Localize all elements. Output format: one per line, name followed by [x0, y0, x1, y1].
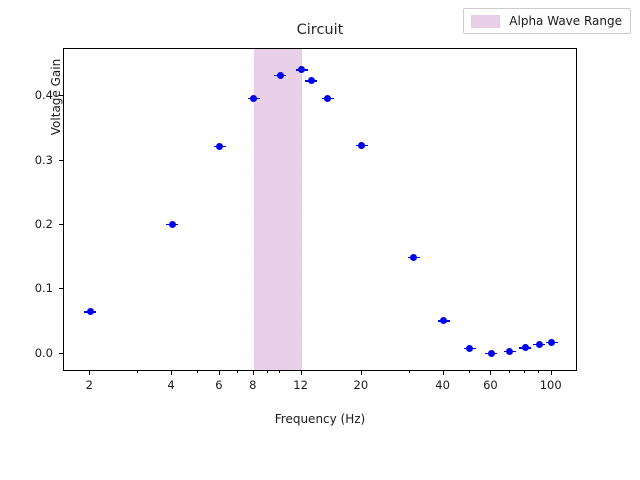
error-bar: [166, 224, 178, 225]
data-point: [440, 317, 447, 324]
error-bar: [274, 75, 286, 76]
data-point: [87, 308, 94, 315]
x-tick-mark: [89, 371, 90, 375]
y-tick-label: 0.0: [35, 346, 53, 360]
x-tick-mark: [171, 371, 172, 375]
x-tick-label: 20: [354, 378, 369, 392]
error-bar: [305, 80, 317, 81]
error-bar: [438, 320, 450, 321]
data-point: [548, 339, 555, 346]
error-bar: [546, 342, 558, 343]
shaded-region-right-edge: [301, 49, 302, 370]
x-tick-mark: [301, 371, 302, 375]
data-point: [298, 66, 305, 73]
error-bar: [408, 257, 420, 258]
x-tick-mark: [551, 371, 552, 375]
x-tick-minor: [279, 371, 280, 373]
error-bar: [84, 311, 96, 312]
y-tick-mark: [59, 353, 63, 354]
x-tick-minor: [409, 371, 410, 373]
error-bar: [356, 145, 368, 146]
x-tick-label: 8: [249, 378, 256, 392]
x-tick-minor: [137, 371, 138, 373]
y-tick-mark: [59, 288, 63, 289]
error-bar: [533, 344, 545, 345]
x-tick-minor: [524, 371, 525, 373]
data-point: [536, 341, 543, 348]
y-tick-label: 0.1: [35, 281, 53, 295]
data-point: [324, 95, 331, 102]
x-axis-label: Frequency (Hz): [63, 412, 577, 426]
plot-area: [63, 48, 577, 371]
x-tick-minor: [267, 371, 268, 373]
x-tick-mark: [490, 371, 491, 375]
y-tick-label: 0.2: [35, 217, 53, 231]
data-point: [250, 95, 257, 102]
x-tick-minor: [469, 371, 470, 373]
data-point: [169, 221, 176, 228]
data-point: [277, 72, 284, 79]
alpha-wave-shaded-region: [254, 49, 302, 370]
x-tick-minor: [237, 371, 238, 373]
data-point: [308, 77, 315, 84]
x-tick-mark: [219, 371, 220, 375]
error-bar: [504, 351, 516, 352]
data-point: [216, 143, 223, 150]
error-bar: [248, 98, 260, 99]
error-bar: [214, 146, 226, 147]
x-tick-mark: [361, 371, 362, 375]
legend-label-alpha-wave-range: Alpha Wave Range: [509, 14, 622, 28]
error-bar: [464, 348, 476, 349]
error-bar: [519, 347, 531, 348]
x-tick-minor: [538, 371, 539, 373]
x-tick-minor: [509, 371, 510, 373]
data-point: [506, 348, 513, 355]
error-bar: [322, 98, 334, 99]
chart-figure: Circuit 246812204060100 0.00.10.20.30.4 …: [0, 0, 640, 480]
data-point: [466, 345, 473, 352]
x-tick-label: 40: [435, 378, 450, 392]
legend-swatch-alpha-wave-range: [471, 15, 500, 28]
x-tick-label: 12: [293, 378, 308, 392]
x-tick-label: 60: [483, 378, 498, 392]
x-tick-label: 2: [86, 378, 93, 392]
x-tick-mark: [443, 371, 444, 375]
y-tick-mark: [59, 224, 63, 225]
error-bar: [485, 353, 497, 354]
x-tick-label: 100: [540, 378, 562, 392]
legend: Alpha Wave Range: [463, 8, 631, 34]
x-tick-mark: [253, 371, 254, 375]
data-point: [358, 142, 365, 149]
data-point: [410, 254, 417, 261]
data-point: [522, 344, 529, 351]
error-bar: [296, 69, 308, 70]
data-point: [488, 350, 495, 357]
x-tick-minor: [197, 371, 198, 373]
x-tick-label: 6: [215, 378, 222, 392]
x-tick-label: 4: [167, 378, 174, 392]
y-axis-label: Voltage Gain: [49, 0, 63, 217]
